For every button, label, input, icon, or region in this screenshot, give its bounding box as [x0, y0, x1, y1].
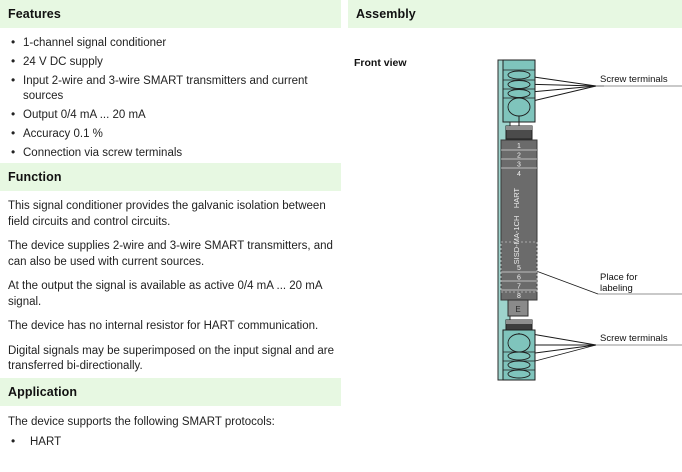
callout-screw-terminals-top: Screw terminals	[600, 74, 668, 85]
terminal-number: 8	[517, 293, 521, 300]
callout-screw-terminals-bottom: Screw terminals	[600, 333, 668, 344]
function-title: Function	[0, 170, 62, 184]
application-title: Application	[0, 385, 77, 399]
terminal-number: 1	[517, 143, 521, 150]
list-item: 1-channel signal conditioner	[8, 36, 349, 51]
paragraph: The device has no internal resistor for …	[8, 319, 349, 335]
paragraph: This signal conditioner provides the gal…	[8, 199, 349, 230]
paragraph: At the output the signal is available as…	[8, 279, 349, 310]
list-item: HART	[8, 435, 349, 450]
function-body: This signal conditioner provides the gal…	[0, 199, 359, 408]
device-module: 1 2 3 4 HART SISD-MA-1CH 5 6 7 8	[498, 60, 537, 380]
list-item: 24 V DC supply	[8, 55, 349, 70]
section-header-features: Features	[0, 0, 341, 28]
assembly-diagram: 1 2 3 4 HART SISD-MA-1CH 5 6 7 8	[348, 0, 682, 472]
list-item: Output 0/4 mA ... 20 mA	[8, 108, 349, 123]
terminal-number: 4	[517, 171, 521, 178]
list-item: Accuracy 0.1 %	[8, 127, 349, 142]
list-item: Input 2-wire and 3-wire SMART transmitte…	[8, 74, 349, 104]
plate-glyph: E	[515, 305, 520, 314]
section-header-function: Function	[0, 163, 341, 191]
terminal-number: 3	[517, 162, 521, 169]
terminal-block-top	[503, 60, 535, 122]
section-header-application: Application	[0, 378, 341, 406]
features-list: 1-channel signal conditioner 24 V DC sup…	[8, 36, 349, 161]
application-body: The device supports the following SMART …	[0, 415, 359, 454]
paragraph: Digital signals may be superimposed on t…	[8, 344, 349, 375]
terminal-number: 5	[517, 265, 521, 272]
application-intro: The device supports the following SMART …	[8, 415, 349, 431]
terminal-number: 7	[517, 284, 521, 291]
terminal-number: 2	[517, 153, 521, 160]
left-column: Features 1-channel signal conditioner 24…	[0, 0, 341, 472]
device-label-type: SISD-MA-1CH	[512, 216, 521, 265]
device-label-hart: HART	[512, 187, 521, 208]
datasheet-page: Features 1-channel signal conditioner 24…	[0, 0, 682, 472]
list-item: Connection via screw terminals	[8, 146, 349, 161]
callout-place-for-labeling: Place for labeling	[600, 272, 638, 294]
paragraph: The device supplies 2-wire and 3-wire SM…	[8, 239, 349, 270]
right-column: Assembly Front view	[348, 0, 682, 472]
features-title: Features	[0, 7, 61, 21]
features-list-wrap: 1-channel signal conditioner 24 V DC sup…	[0, 36, 359, 165]
terminal-number: 6	[517, 275, 521, 282]
application-list: HART	[8, 435, 349, 450]
